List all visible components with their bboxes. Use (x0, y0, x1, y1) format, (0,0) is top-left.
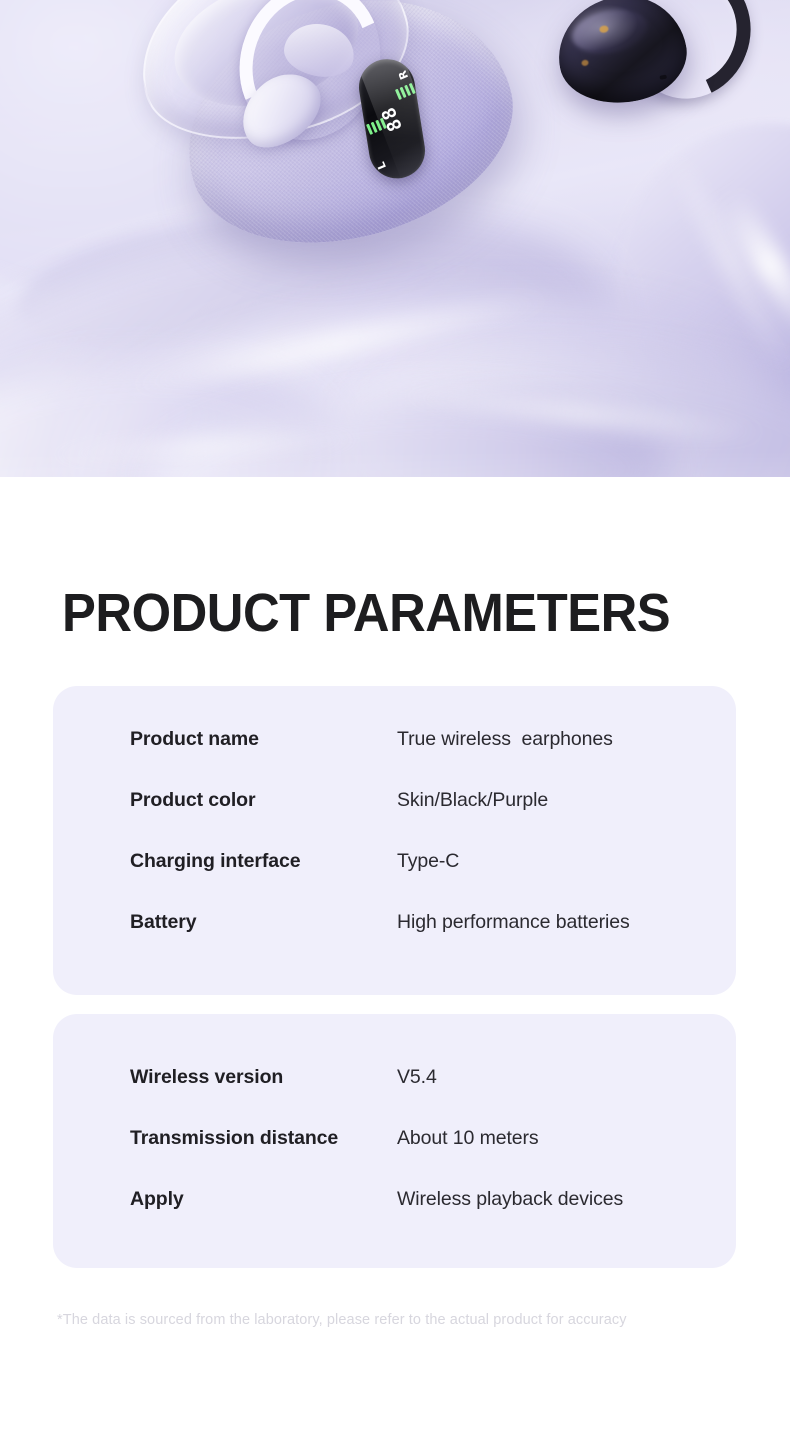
parameter-label: Transmission distance (130, 1127, 397, 1150)
parameters-card-secondary: Wireless version V5.4 Transmission dista… (53, 1014, 736, 1268)
parameter-label: Wireless version (130, 1066, 397, 1089)
parameter-label: Battery (130, 911, 397, 934)
disclaimer-footnote: *The data is sourced from the laboratory… (57, 1312, 627, 1328)
parameter-value: About 10 meters (397, 1127, 539, 1150)
table-row: Product name True wireless earphones (130, 728, 716, 789)
product-parameters-section: PRODUCT PARAMETERS Product name True wir… (0, 477, 790, 1451)
parameter-row-group: Wireless version V5.4 Transmission dista… (130, 1066, 716, 1249)
page-title: PRODUCT PARAMETERS (62, 585, 670, 641)
hero-product-image: 88 L R (0, 0, 790, 477)
table-row: Charging interface Type-C (130, 850, 716, 911)
table-row: Battery High performance batteries (130, 911, 716, 972)
table-row: Apply Wireless playback devices (130, 1188, 716, 1249)
parameter-value: True wireless earphones (397, 728, 613, 751)
parameter-value: High performance batteries (397, 911, 630, 934)
table-row: Wireless version V5.4 (130, 1066, 716, 1127)
parameter-label: Apply (130, 1188, 397, 1211)
parameter-value: Skin/Black/Purple (397, 789, 548, 812)
led-left-indicator: L (374, 160, 389, 172)
parameter-label: Product name (130, 728, 397, 751)
parameter-label: Product color (130, 789, 397, 812)
hero-bottom-fade (0, 451, 790, 477)
parameter-label: Charging interface (130, 850, 397, 873)
parameter-value: Type-C (397, 850, 459, 873)
parameter-row-group: Product name True wireless earphones Pro… (130, 728, 716, 972)
parameters-card-primary: Product name True wireless earphones Pro… (53, 686, 736, 995)
table-row: Product color Skin/Black/Purple (130, 789, 716, 850)
table-row: Transmission distance About 10 meters (130, 1127, 716, 1188)
parameter-value: Wireless playback devices (397, 1188, 623, 1211)
parameter-value: V5.4 (397, 1066, 437, 1089)
